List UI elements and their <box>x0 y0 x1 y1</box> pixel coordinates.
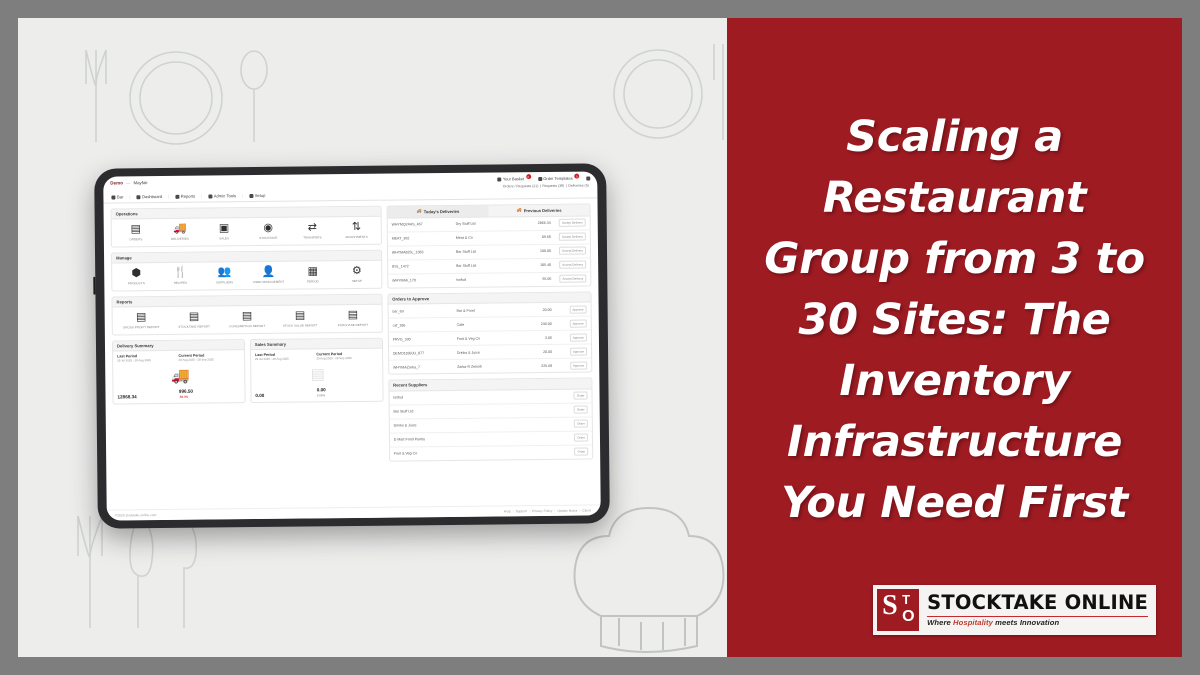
tile-user-management[interactable]: 👤 USER MANAGEMENT <box>247 267 291 285</box>
tile-stocktake[interactable]: ◉ STOCKTAKE <box>246 223 290 241</box>
order-templates-label: Order Templates <box>543 176 573 181</box>
bar-icon <box>111 195 115 199</box>
order-amount: 20.00 <box>521 350 552 354</box>
truck-icon: 🚚 <box>517 208 522 214</box>
tile-label: SALES <box>219 237 229 241</box>
footer-link-client[interactable]: Client <box>582 508 590 512</box>
tile-sales[interactable]: ▣ SALES <box>202 223 246 241</box>
list-item[interactable]: Fruit & Veg Co Order <box>390 445 592 460</box>
tab-label: Previous Deliveries <box>524 208 562 213</box>
order-ref: WHYMAZarka_7 <box>393 365 457 370</box>
table-row[interactable]: WHYMAZarka_7 Zarka-R Zeinoh 225.68 Appro… <box>389 359 591 374</box>
sales-watermark-icon: ▤ <box>311 365 325 383</box>
approve-order-button[interactable]: Approve <box>570 361 587 369</box>
breadcrumb-separator: — <box>126 180 130 185</box>
order-supplier: Drinks & Juice <box>457 350 521 355</box>
stock-value-report-icon: ▤ <box>295 311 306 322</box>
tile-label: PURCHASE REPORT <box>338 324 368 328</box>
page-title: Scaling a Restaurant Group from 3 to 30 … <box>745 107 1165 534</box>
headline-panel: Scaling a Restaurant Group from 3 to 30 … <box>727 18 1182 657</box>
transfers-icon: ⇄ <box>308 223 317 234</box>
supplier-name: Drinks & Juice <box>394 422 534 427</box>
tile-period[interactable]: ▦ PERIOD <box>291 267 335 285</box>
tile-label: ORDERS <box>129 238 142 242</box>
truck-icon: 🚚 <box>417 209 422 215</box>
delivery-summary-card: Delivery Summary 🚚 Last Period 29 Jul 20… <box>112 339 246 405</box>
bell-icon <box>586 176 590 180</box>
suppliers-icon: 👥 <box>218 268 232 279</box>
operations-tiles: ▤ ORDERS 🚚 DELIVERIES ▣ SALES <box>112 217 381 246</box>
poster-inner: Scaling a Restaurant Group from 3 to 30 … <box>18 18 1182 657</box>
supplier-name: D Mart Food Pantry <box>394 436 534 441</box>
delivery-amount: 2866.34 <box>520 221 551 225</box>
footer-link-support[interactable]: Support <box>515 509 527 513</box>
delivery-ref: BSL_1472 <box>392 264 456 269</box>
order-button[interactable]: Order <box>574 448 588 456</box>
nav-item-bar[interactable]: Bar <box>111 194 123 199</box>
delivery-current-amount: 996.50 <box>179 389 193 394</box>
logo-name: STOCKTAKE ONLINE <box>927 593 1148 613</box>
tile-products[interactable]: ⬢ PRODUCTS <box>114 268 158 286</box>
right-column: 🚚 Today's Deliveries 🚚 Previous Deliveri… <box>386 203 593 466</box>
order-amount: 3.05 <box>521 336 552 340</box>
delivery-delta: -92.3% <box>179 395 193 399</box>
tile-label: CONSUMPTION REPORT <box>229 325 265 329</box>
delivery-supplier: Dry Stuff Ltd <box>456 222 520 227</box>
tile-label: SUPPLIERS <box>216 281 233 285</box>
approve-order-button[interactable]: Approve <box>570 319 587 327</box>
dashboard-body: Operations ▤ ORDERS 🚚 DELIVERIES <box>103 198 600 469</box>
accept-delivery-button[interactable]: Accept Delivery <box>559 275 586 283</box>
nav-divider: | <box>201 194 202 199</box>
tile-stock-value-report[interactable]: ▤ STOCK VALUE REPORT <box>273 311 326 329</box>
recipes-icon: 🍴 <box>174 268 188 279</box>
delivery-last-value: 12868.34 <box>117 395 136 400</box>
orders-to-approve-list: bar_69 Bar & Food 20.00 Approve caf_186 … <box>388 303 591 374</box>
tile-label: GROSS PROFIT REPORT <box>123 326 160 330</box>
sales-icon: ▣ <box>219 224 230 235</box>
order-ref: DEMO110BJU_877 <box>393 351 457 356</box>
tile-purchase-report[interactable]: ▤ PURCHASE REPORT <box>326 310 379 328</box>
tile-label: STOCK VALUE REPORT <box>283 324 318 328</box>
nav-label-dashboard: Dashboard <box>142 194 162 199</box>
period-dates: 29 Jul 2025 - 28 Aug 2025 <box>117 359 172 363</box>
stocktake-icon: ◉ <box>263 223 273 234</box>
products-icon: ⬢ <box>131 269 141 280</box>
app-breadcrumb: Demo — Mayfair <box>110 180 148 185</box>
order-button[interactable]: Order <box>574 434 588 442</box>
brand-logo: S T O STOCKTAKE ONLINE Where Hospitality… <box>873 585 1156 635</box>
counter-requests: Requests (39) <box>542 183 564 187</box>
order-supplier: Cafe <box>457 322 521 327</box>
nav-label-setup: Setup <box>255 193 266 198</box>
delivery-amount: 89.68 <box>520 235 551 239</box>
user-icon: 👤 <box>262 267 276 278</box>
order-templates-badge: 0 <box>574 174 579 179</box>
supplier-name: Isofud <box>393 394 533 399</box>
tab-label: Today's Deliveries <box>424 209 460 214</box>
delivery-amount: 55.05 <box>520 277 551 281</box>
accept-delivery-button[interactable]: Accept Delivery <box>559 261 586 269</box>
footer-link-update-notes[interactable]: Update Notes <box>557 508 577 512</box>
period-dates: 29 Aug 2025 - 28 Sep 2025 <box>179 359 234 363</box>
tile-label: TRANSFERS <box>303 236 321 240</box>
logo-letter-o: O <box>902 608 914 626</box>
order-amount: 240.00 <box>521 322 552 326</box>
tablet-device-mockup: Demo — Mayfair Your Basket 0 <box>94 163 610 528</box>
operations-card: Operations ▤ ORDERS 🚚 DELIVERIES <box>111 206 382 248</box>
recent-suppliers-card: Recent Suppliers Isofud Order Bar Stuff … <box>388 378 593 462</box>
logo-monogram-icon: S T O <box>877 589 919 631</box>
tab-todays-deliveries[interactable]: 🚚 Today's Deliveries <box>387 206 488 219</box>
nav-divider: | <box>242 193 243 198</box>
order-amount: 20.00 <box>521 308 552 312</box>
accept-delivery-button[interactable]: Accept Delivery <box>559 233 586 241</box>
tools-icon <box>208 194 212 198</box>
order-templates-link[interactable]: Order Templates 0 <box>538 176 580 181</box>
deliveries-card: 🚚 Today's Deliveries 🚚 Previous Deliveri… <box>386 203 591 288</box>
tile-label: RECIPES <box>174 282 187 286</box>
alerts-link[interactable] <box>586 176 590 180</box>
tile-label: ADJUSTMENTS <box>345 236 368 240</box>
order-ref: FRVG_330 <box>393 337 457 342</box>
recent-suppliers-list: Isofud Order Bar Stuff Ltd Order Drinks … <box>389 389 592 460</box>
tile-gross-profit-report[interactable]: ▤ GROSS PROFIT REPORT <box>115 312 168 330</box>
nav-divider: | <box>168 194 169 199</box>
delivery-ref: WHYMQ24HS_467 <box>391 222 455 227</box>
orders-icon: ▤ <box>131 225 142 236</box>
approve-order-button[interactable]: Approve <box>569 305 586 313</box>
template-icon <box>538 177 542 181</box>
order-supplier: Bar & Food <box>456 308 520 313</box>
dashboard-screen: Demo — Mayfair Your Basket 0 <box>103 171 601 520</box>
deliveries-list: WHYMQ24HS_467 Dry Stuff Ltd 2866.34 Acce… <box>387 216 590 287</box>
delivery-ref: WHYMA6_170 <box>392 278 456 283</box>
copyright-text: ©2025 stocktake-online.com <box>115 513 157 517</box>
manage-tiles: ⬢ PRODUCTS 🍴 RECIPES 👥 SUPPLIERS <box>112 261 381 290</box>
tile-label: DELIVERIES <box>171 238 189 242</box>
adjustments-icon: ⇅ <box>352 222 361 233</box>
reports-card: Reports ▤ GROSS PROFIT REPORT ▤ STOCKTAK… <box>111 294 382 336</box>
app-brand: Demo <box>110 180 123 185</box>
setup-icon <box>249 194 253 198</box>
nav-item-reports[interactable]: Reports <box>175 194 195 199</box>
settings-icon: ⚙ <box>352 266 362 277</box>
purchase-report-icon: ▤ <box>348 310 359 321</box>
sales-last-period: Last Period 29 Jul 2025 - 28 Aug 2025 <box>255 353 317 399</box>
footer-link-privacy-policy[interactable]: Privacy Policy <box>532 508 553 512</box>
basket-label: Your Basket <box>503 176 524 181</box>
order-ref: caf_186 <box>393 323 457 328</box>
left-column: Operations ▤ ORDERS 🚚 DELIVERIES <box>111 206 384 469</box>
reports-icon <box>175 194 179 198</box>
sales-current-amount: 0.00 <box>317 388 326 393</box>
tile-adjustments[interactable]: ⇅ ADJUSTMENTS <box>334 222 378 240</box>
poster-canvas: Scaling a Restaurant Group from 3 to 30 … <box>0 0 1200 675</box>
nav-divider: | <box>129 194 130 199</box>
logo-letter-t: T <box>902 592 910 607</box>
delivery-supplier: Meat & Co <box>456 236 520 241</box>
accept-delivery-button[interactable]: Accept Delivery <box>559 219 586 227</box>
order-button[interactable]: Order <box>574 392 588 400</box>
period-dates: 29 Jul 2025 - 28 Aug 2025 <box>255 358 310 362</box>
calendar-icon: ▦ <box>308 267 319 278</box>
basket-badge: 0 <box>526 174 531 179</box>
basket-link[interactable]: Your Basket 0 <box>497 176 530 181</box>
app-footer: ©2025 stocktake-online.com Help|Support|… <box>107 504 601 520</box>
summary-row: Delivery Summary 🚚 Last Period 29 Jul 20… <box>112 338 383 405</box>
plate-cutlery-decoration-left <box>58 36 288 156</box>
sales-last-value: 0.00 <box>255 393 264 398</box>
tablet-side-button <box>93 277 95 295</box>
tile-label: PERIOD <box>307 280 319 284</box>
order-button[interactable]: Order <box>574 420 588 428</box>
delivery-current-value: 996.50 -92.3% <box>179 389 193 399</box>
delivery-supplier: Isofud <box>456 278 520 283</box>
sales-summary-card: Sales Summary ▤ Last Period 29 Jul 2025 … <box>250 338 384 404</box>
order-button[interactable]: Order <box>574 406 588 414</box>
stocktake-report-icon: ▤ <box>189 312 200 323</box>
nav-item-admin-tools[interactable]: Admin Tools <box>208 193 236 198</box>
tile-suppliers[interactable]: 👥 SUPPLIERS <box>202 267 246 285</box>
sales-current-value: 0.00 0.00% <box>317 388 326 398</box>
delivery-amount: 100.00 <box>520 249 551 253</box>
delivery-ref: MEAT_392 <box>392 236 456 241</box>
tagline-prefix: Where <box>927 618 953 627</box>
truck-icon: 🚚 <box>173 224 187 235</box>
supplier-name: Fruit & Veg Co <box>394 450 534 455</box>
orders-to-approve-card: Orders to Approve bar_69 Bar & Food 20.0… <box>387 291 592 375</box>
counter-orders: Orders / Requests (21) <box>503 184 539 188</box>
nav-item-dashboard[interactable]: Dashboard <box>136 194 162 199</box>
delivery-ref: WHYMA825L_1383 <box>392 250 456 255</box>
basket-icon <box>497 177 501 181</box>
counter-deliveries: Deliveries (5) <box>568 183 589 187</box>
tab-previous-deliveries[interactable]: 🚚 Previous Deliveries <box>488 205 589 218</box>
tile-label: USER MANAGEMENT <box>253 281 284 285</box>
tagline-highlight: Hospitality <box>953 618 993 627</box>
logo-tagline: Where Hospitality meets Innovation <box>927 619 1148 627</box>
tile-setup[interactable]: ⚙ SETUP <box>335 266 379 284</box>
manage-card: Manage ⬢ PRODUCTS 🍴 RECIPES <box>111 250 382 292</box>
delivery-amount: 185.48 <box>520 263 551 267</box>
order-ref: bar_69 <box>392 309 456 314</box>
plate-cutlery-decoration-right <box>610 34 740 154</box>
truck-watermark-icon: 🚚 <box>171 367 190 385</box>
tile-recipes[interactable]: 🍴 RECIPES <box>158 268 202 286</box>
tile-consumption-report[interactable]: ▤ CONSUMPTION REPORT <box>221 311 274 329</box>
footer-link-help[interactable]: Help <box>504 509 511 513</box>
delivery-supplier: Bar Stuff Ltd <box>456 250 520 255</box>
approve-order-button[interactable]: Approve <box>570 347 587 355</box>
consumption-report-icon: ▤ <box>242 311 253 322</box>
tile-transfers[interactable]: ⇄ TRANSFERS <box>290 223 334 241</box>
gross-profit-report-icon: ▤ <box>136 313 147 324</box>
nav-label-bar: Bar <box>117 194 123 199</box>
tile-deliveries[interactable]: 🚚 DELIVERIES <box>158 224 202 242</box>
tile-label: PRODUCTS <box>128 282 145 286</box>
deliveries-tabs: 🚚 Today's Deliveries 🚚 Previous Deliveri… <box>387 205 589 219</box>
tile-orders[interactable]: ▤ ORDERS <box>114 224 158 242</box>
nav-label-admin-tools: Admin Tools <box>214 193 236 198</box>
nav-item-setup[interactable]: Setup <box>249 193 265 198</box>
table-row[interactable]: WHYMA6_170 Isofud 55.05 Accept Delivery <box>388 272 590 287</box>
header-quick-links: Your Basket 0 Order Templates 0 <box>497 175 590 181</box>
period-dates: 29 Aug 2025 - 28 Sep 2025 <box>316 357 371 361</box>
nav-label-reports: Reports <box>181 194 195 199</box>
tile-stocktake-report[interactable]: ▤ STOCKTAKE REPORT <box>168 312 221 330</box>
order-amount: 225.68 <box>521 364 552 368</box>
tagline-suffix: meets Innovation <box>993 618 1059 627</box>
current-site: Mayfair <box>133 180 147 185</box>
tile-label: STOCKTAKE <box>259 237 277 241</box>
sales-delta: 0.00% <box>317 394 326 398</box>
logo-letter-s: S <box>882 590 898 622</box>
reports-tiles: ▤ GROSS PROFIT REPORT ▤ STOCKTAKE REPORT… <box>113 305 382 334</box>
tile-label: STOCKTAKE REPORT <box>178 325 210 329</box>
order-supplier: Zarka-R Zeinoh <box>457 364 521 369</box>
delivery-last-period: Last Period 29 Jul 2025 - 28 Aug 2025 <box>117 354 179 400</box>
dashboard-icon <box>136 195 140 199</box>
supplier-name: Bar Stuff Ltd <box>393 408 533 413</box>
order-supplier: Fruit & Veg Co <box>457 336 521 341</box>
accept-delivery-button[interactable]: Accept Delivery <box>559 247 586 255</box>
approve-order-button[interactable]: Approve <box>570 333 587 341</box>
footer-links: Help|Support|Privacy Policy|Update Notes… <box>502 508 593 513</box>
logo-divider <box>927 616 1148 617</box>
tile-label: SETUP <box>352 280 362 284</box>
delivery-supplier: Bar Stuff Ltd <box>456 264 520 269</box>
